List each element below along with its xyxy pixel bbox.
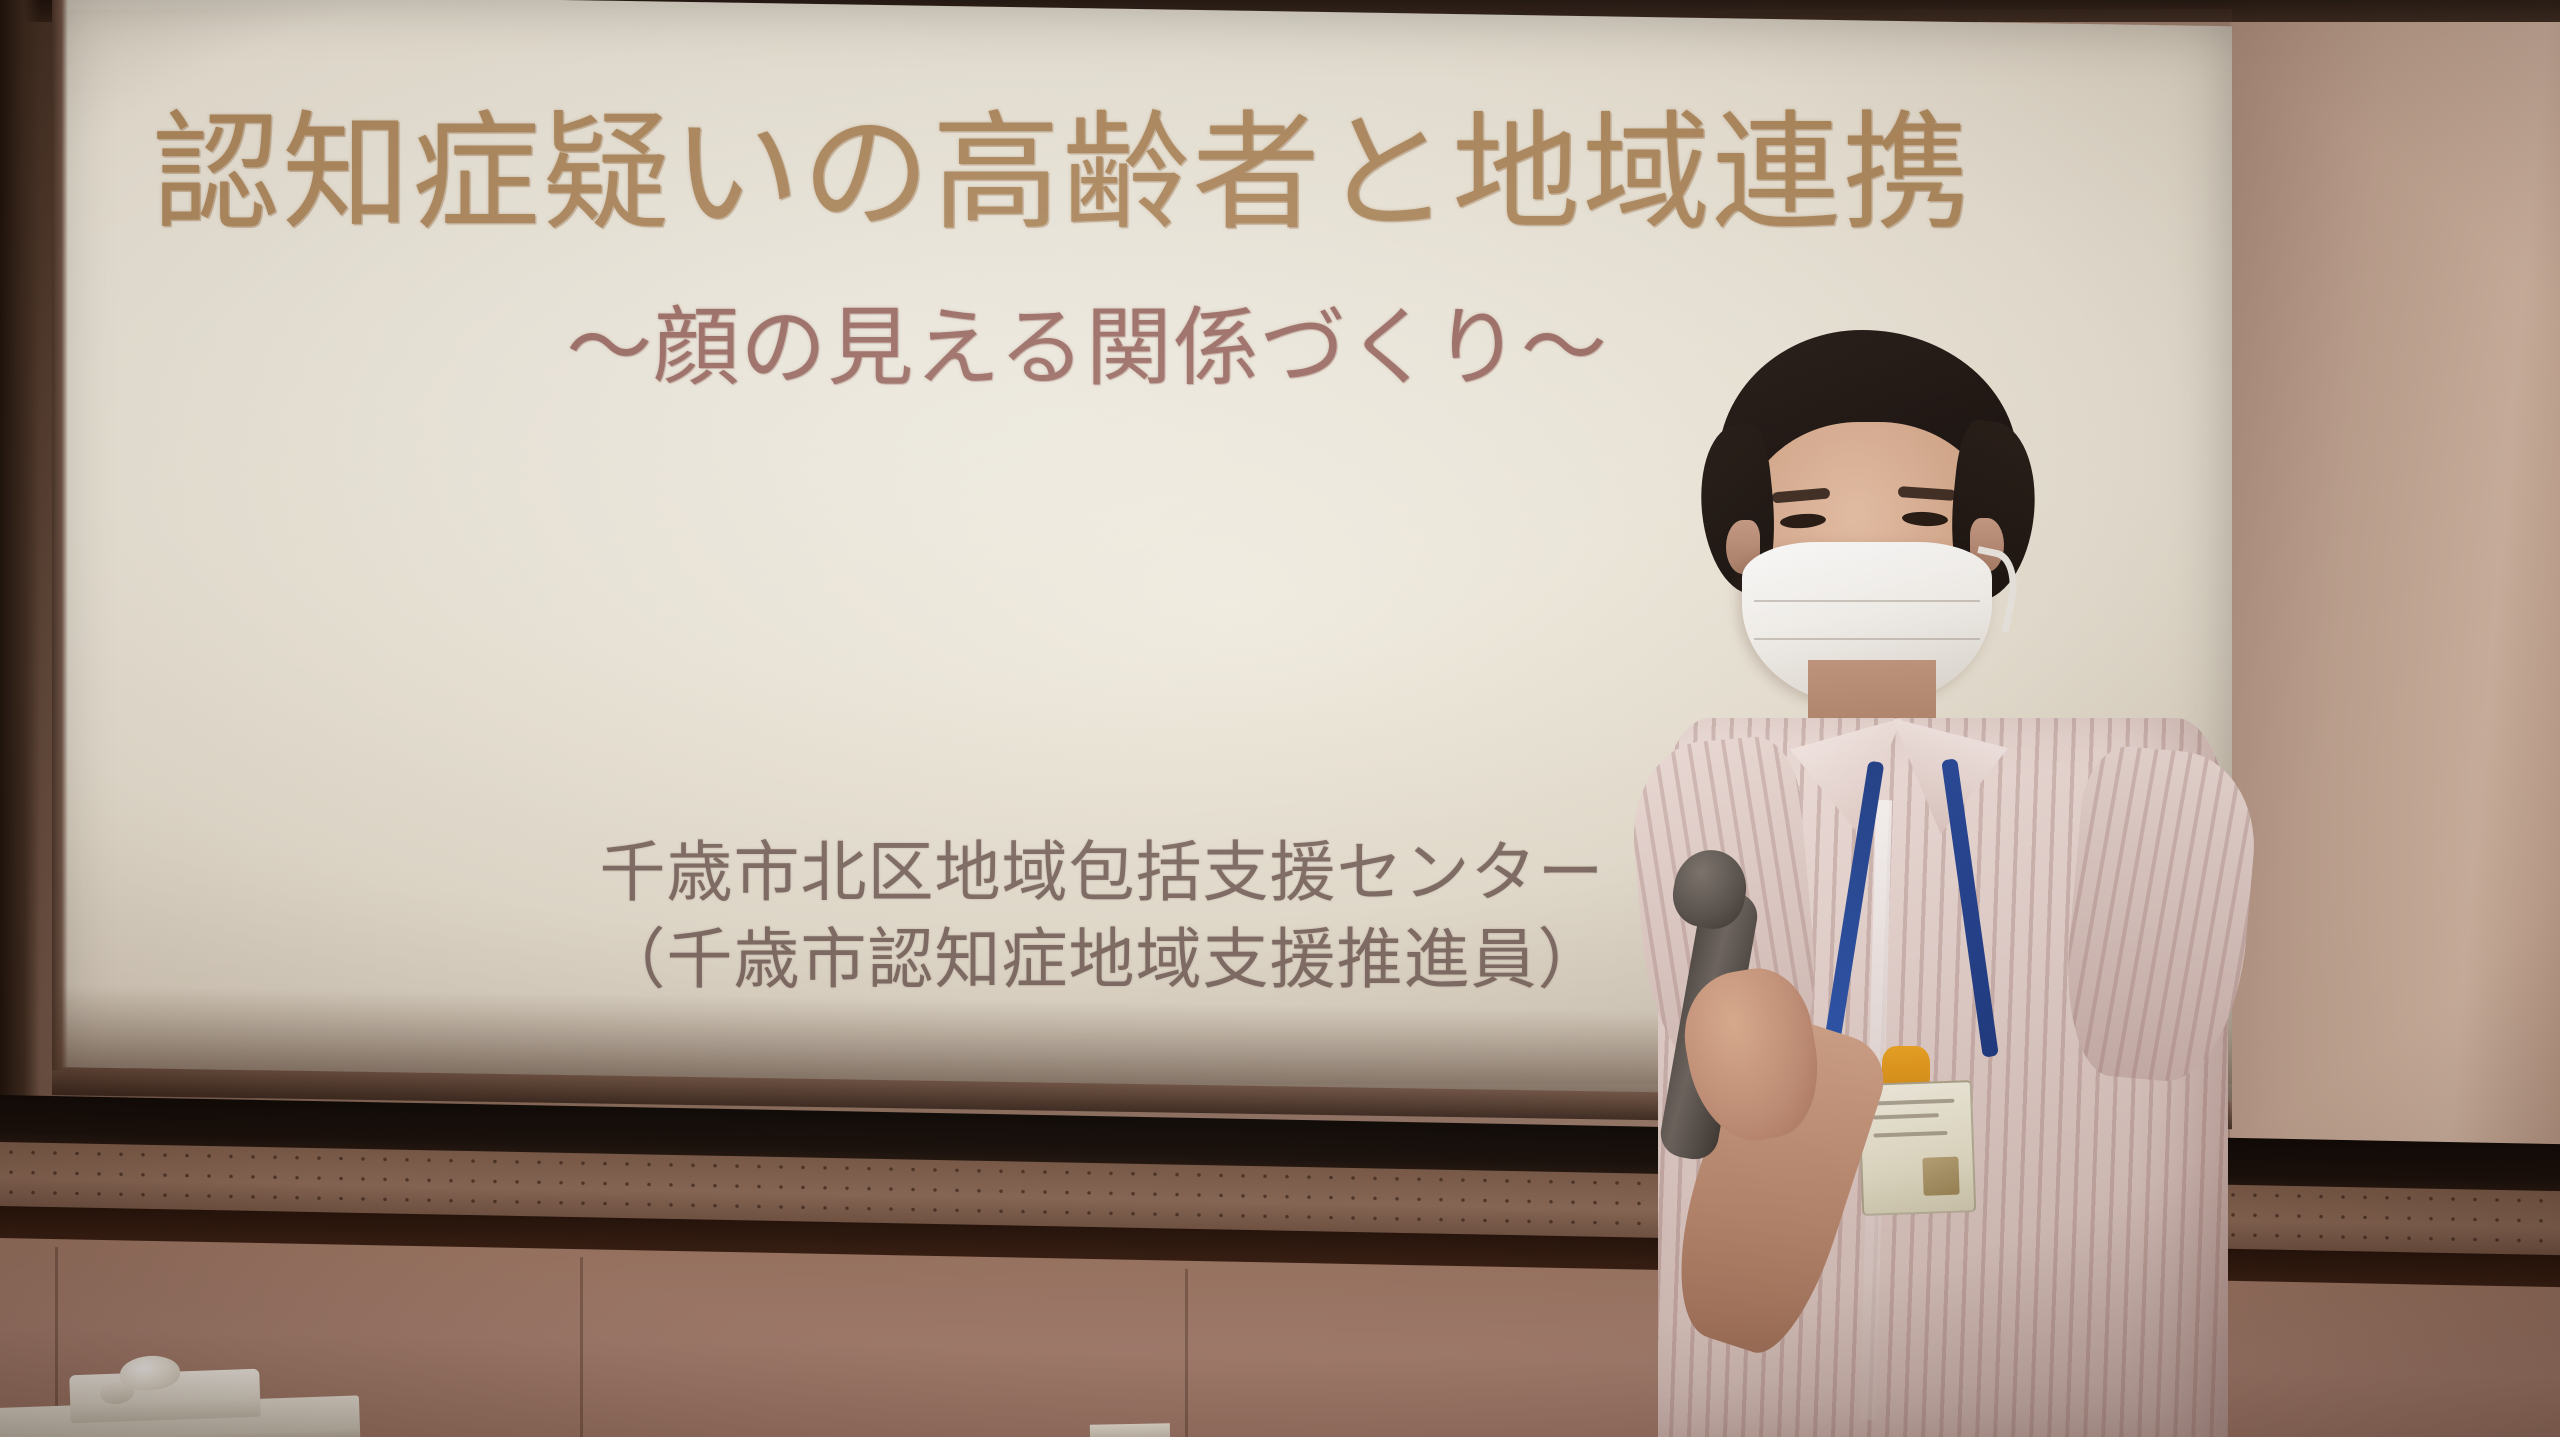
badge-text-line [1873,1113,1939,1119]
wall-panel-seam [1185,1269,1188,1437]
paper-sheet [1090,1423,1170,1437]
badge-text-line [1872,1099,1954,1106]
presentation-photo-scene: 認知症疑いの高齢者と地域連携 〜顔の見える関係づくり〜 千歳市北区地域包括支援セ… [0,0,2560,1437]
mask-pleat [1754,638,1980,640]
wall-panel-seam [580,1257,583,1437]
speaker-person [1640,330,2260,1437]
badge-photo [1922,1157,1959,1196]
screen-left-edge [52,0,68,1070]
slide-title: 認知症疑いの高齢者と地域連携 [152,105,2112,243]
mask-pleat [1754,600,1980,602]
badge-text-line [1873,1131,1947,1138]
shirt-sleeve-right [2058,743,2262,1087]
